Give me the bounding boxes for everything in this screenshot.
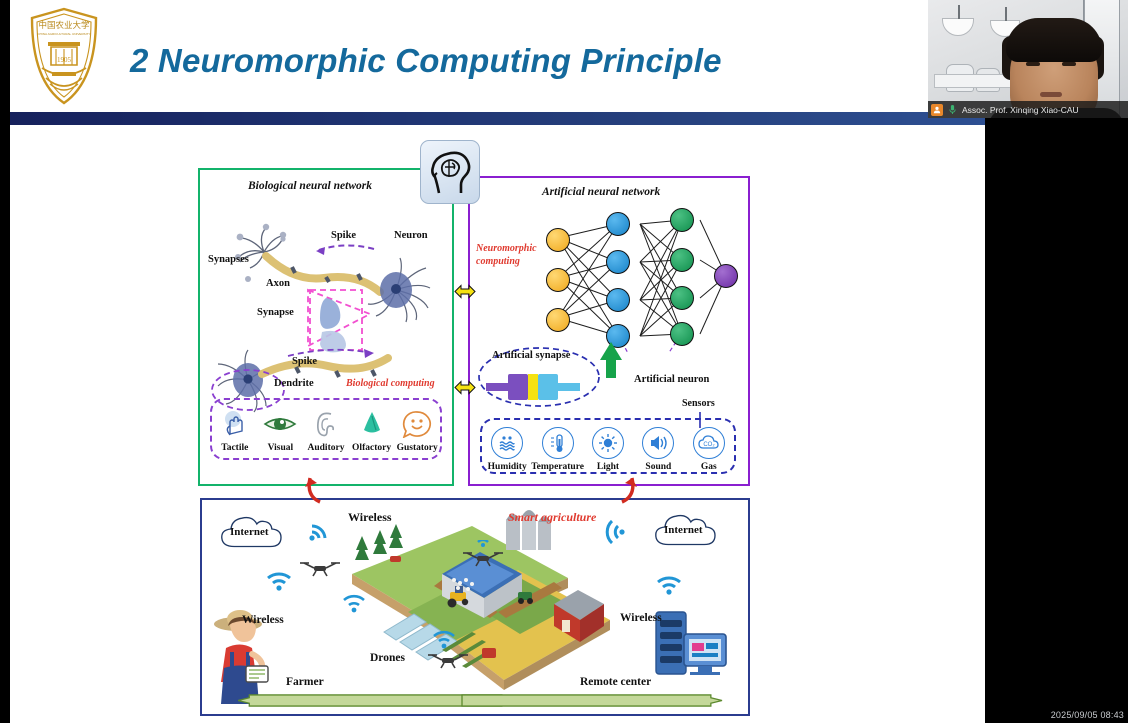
ann-node-hidden1-3 xyxy=(606,288,630,312)
sensor-label: Sound xyxy=(645,462,671,472)
label-smart-agriculture: Smart agriculture xyxy=(508,510,596,525)
participant-name-bar: Assoc. Prof. Xinqing Xiao-CAU xyxy=(928,101,1128,118)
slide-title: 2 Neuromorphic Computing Principle xyxy=(130,42,722,80)
drone-icon-2 xyxy=(298,556,342,580)
co2-gas-icon: CO₂ xyxy=(693,427,725,459)
eye-right xyxy=(1062,62,1076,66)
sensor-gas: CO₂ Gas xyxy=(684,427,734,472)
sensor-label: Gas xyxy=(701,462,717,472)
label-farmer: Farmer xyxy=(286,676,324,688)
label-spike-top: Spike xyxy=(331,230,356,241)
timestamp: 2025/09/05 08:43 xyxy=(1051,710,1124,720)
participant-name: Assoc. Prof. Xinqing Xiao-CAU xyxy=(962,105,1079,115)
remote-center-illustration xyxy=(654,608,730,692)
agriculture-panel: Internet Internet xyxy=(200,498,750,716)
speaker-icon xyxy=(642,427,674,459)
taste-smiley-icon xyxy=(402,407,432,441)
green-feed-arrow-icon xyxy=(598,340,624,380)
sun-icon xyxy=(592,427,624,459)
label-artificial-neuron: Artificial neuron xyxy=(634,374,709,385)
sense-label: Olfactory xyxy=(352,443,391,453)
sense-label: Tactile xyxy=(221,443,248,453)
sense-label: Auditory xyxy=(308,443,345,453)
eye-left xyxy=(1026,62,1040,66)
svg-text:CHINA AGRICULTURAL UNIVERSITY: CHINA AGRICULTURAL UNIVERSITY xyxy=(37,32,90,36)
label-axon: Axon xyxy=(266,278,290,289)
person-icon xyxy=(931,104,943,116)
label-dendrite: Dendrite xyxy=(274,378,314,389)
svg-text:CO₂: CO₂ xyxy=(703,442,715,448)
label-synapses: Synapses xyxy=(208,254,249,265)
eye-icon xyxy=(263,407,297,441)
nose-icon xyxy=(361,407,383,441)
ann-node-hidden2-1 xyxy=(670,208,694,232)
sense-label: Visual xyxy=(268,443,294,453)
wifi-icon-2 xyxy=(264,568,294,592)
drone-icon-3 xyxy=(426,648,470,672)
sense-tactile: Tactile xyxy=(212,407,258,453)
ann-node-hidden2-4 xyxy=(670,322,694,346)
thermometer-icon xyxy=(542,427,574,459)
presenter-hair xyxy=(1006,18,1102,62)
bidirectional-arrow-top xyxy=(454,284,476,299)
ann-node-hidden2-2 xyxy=(670,248,694,272)
mouth xyxy=(1040,92,1062,97)
wifi-icon-3 xyxy=(340,592,368,614)
wifi-icon-5 xyxy=(600,518,630,544)
slide-header: 中国农业大学 CHINA AGRICULTURAL UNIVERSITY 190… xyxy=(10,0,985,112)
label-remote-center: Remote center xyxy=(580,676,651,688)
label-drones: Drones xyxy=(370,652,405,664)
flow-arrow-to-remote-center xyxy=(450,694,734,707)
wifi-icon-1 xyxy=(306,518,332,544)
label-internet-left: Internet xyxy=(230,526,269,538)
ann-node-input-1 xyxy=(546,228,570,252)
label-neuron: Neuron xyxy=(394,230,428,241)
ann-node-input-2 xyxy=(546,268,570,292)
brain-head-icon xyxy=(420,140,480,204)
artificial-panel: Artificial neural network Neuromorphic c… xyxy=(468,176,750,486)
sense-auditory: Auditory xyxy=(303,407,349,453)
label-sensors: Sensors xyxy=(682,398,715,409)
label-internet-right: Internet xyxy=(664,524,703,536)
sense-label: Gustatory xyxy=(397,443,438,453)
webcam-video-tile[interactable]: Assoc. Prof. Xinqing Xiao-CAU xyxy=(928,0,1128,118)
svg-text:中国农业大学: 中国农业大学 xyxy=(38,20,90,31)
artificial-caption: Artificial neural network xyxy=(542,186,660,198)
biological-panel: Biological neural network xyxy=(198,168,454,486)
header-accent-bar xyxy=(10,112,985,125)
letterbox-left xyxy=(0,0,10,723)
label-spike-bottom: Spike xyxy=(292,356,317,367)
label-wireless-left: Wireless xyxy=(242,614,284,626)
label-artificial-synapse: Artificial synapse xyxy=(492,350,570,361)
label-wireless-right: Wireless xyxy=(620,612,662,624)
sensor-label: Temperature xyxy=(531,462,584,472)
svg-text:1905: 1905 xyxy=(57,56,72,64)
sense-gustatory: Gustatory xyxy=(394,407,440,453)
red-feed-arrow-right xyxy=(612,464,644,504)
label-wireless-top: Wireless xyxy=(348,510,392,525)
drone-icon-1 xyxy=(462,540,504,570)
university-logo: 中国农业大学 CHINA AGRICULTURAL UNIVERSITY 190… xyxy=(28,6,100,106)
sense-visual: Visual xyxy=(258,407,304,453)
microphone-icon[interactable] xyxy=(947,104,958,116)
sensors-strip: Humidity Temperature xyxy=(480,418,736,474)
sense-olfactory: Olfactory xyxy=(349,407,395,453)
ann-node-input-3 xyxy=(546,308,570,332)
ear-icon xyxy=(315,407,337,441)
sensor-label: Humidity xyxy=(488,462,527,472)
bidirectional-arrow-bottom xyxy=(454,380,476,395)
red-feed-arrow-left xyxy=(298,464,330,504)
ann-node-hidden1-1 xyxy=(606,212,630,236)
memristor-device-icon xyxy=(486,372,586,402)
presentation-slide: 中国农业大学 CHINA AGRICULTURAL UNIVERSITY 190… xyxy=(0,0,985,723)
figure-diagram: Biological neural network xyxy=(198,168,750,716)
humidity-icon xyxy=(491,427,523,459)
ann-node-output xyxy=(714,264,738,288)
ann-node-hidden1-2 xyxy=(606,250,630,274)
sensor-humidity: Humidity xyxy=(482,427,532,472)
biological-senses-strip: Tactile Visual xyxy=(210,398,442,460)
ann-node-hidden2-3 xyxy=(670,286,694,310)
wifi-icon-6 xyxy=(654,572,684,596)
label-synapse: Synapse xyxy=(257,307,294,318)
sensor-temperature: Temperature xyxy=(533,427,583,472)
biological-caption: Biological neural network xyxy=(248,180,372,192)
wifi-icon-4 xyxy=(430,628,458,650)
hand-touch-icon xyxy=(223,407,247,441)
label-biological-computing: Biological computing xyxy=(346,378,435,389)
